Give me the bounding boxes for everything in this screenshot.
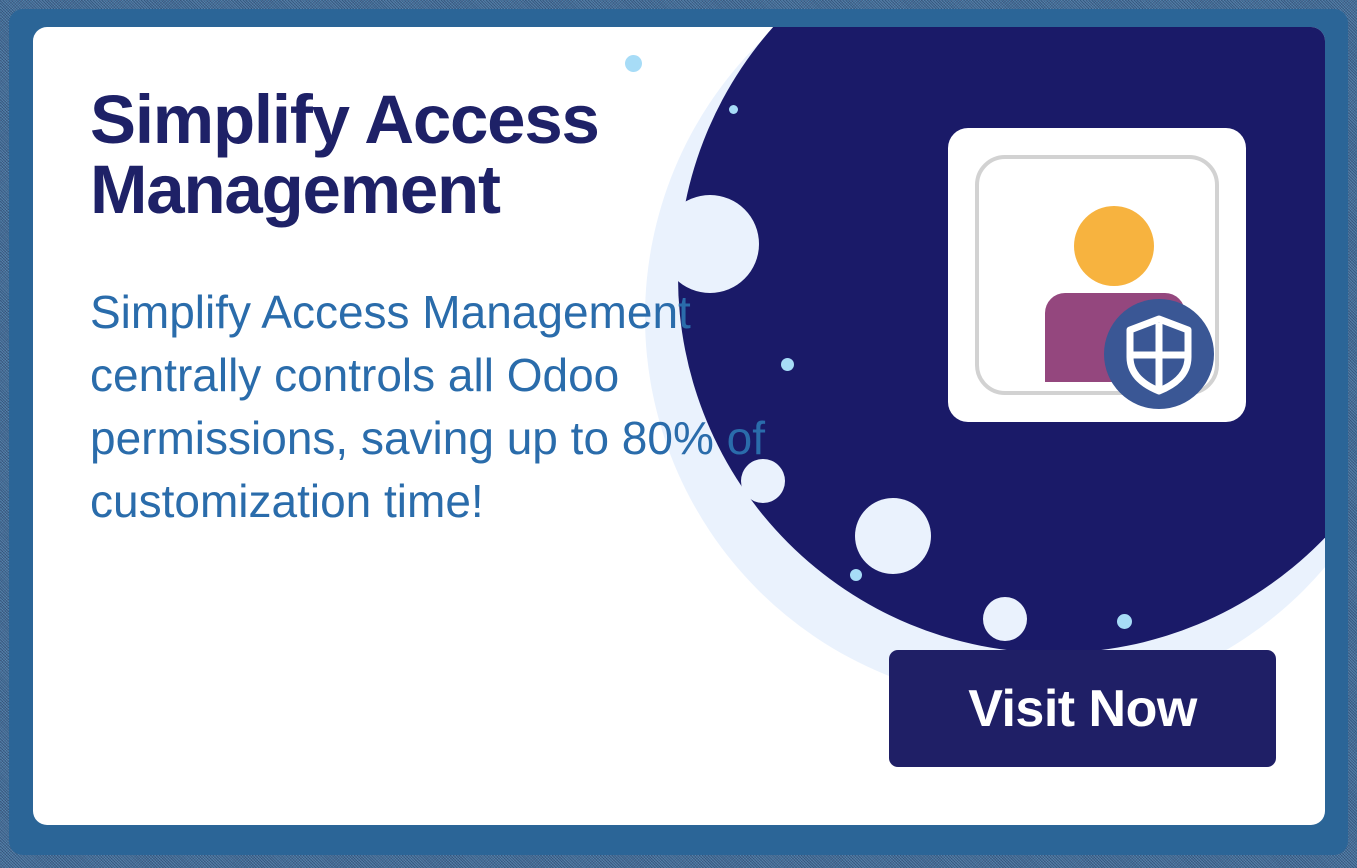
icon-inner-frame (975, 155, 1219, 395)
banner-canvas: Simplify Access Management Simplify Acce… (0, 0, 1357, 868)
blob-3 (855, 498, 931, 574)
promo-card: Simplify Access Management Simplify Acce… (33, 27, 1325, 825)
description-text: Simplify Access Management centrally con… (90, 281, 780, 533)
dot-1 (625, 55, 642, 72)
blob-4 (983, 597, 1027, 641)
dot-4 (850, 569, 862, 581)
visit-now-button[interactable]: Visit Now (889, 650, 1276, 767)
shield-badge-icon (1104, 299, 1214, 409)
person-head-icon (1074, 206, 1154, 286)
dot-5 (1117, 614, 1132, 629)
user-with-shield-icon (948, 128, 1246, 422)
page-title: Simplify Access Management (90, 85, 710, 226)
text-column: Simplify Access Management Simplify Acce… (90, 85, 790, 533)
